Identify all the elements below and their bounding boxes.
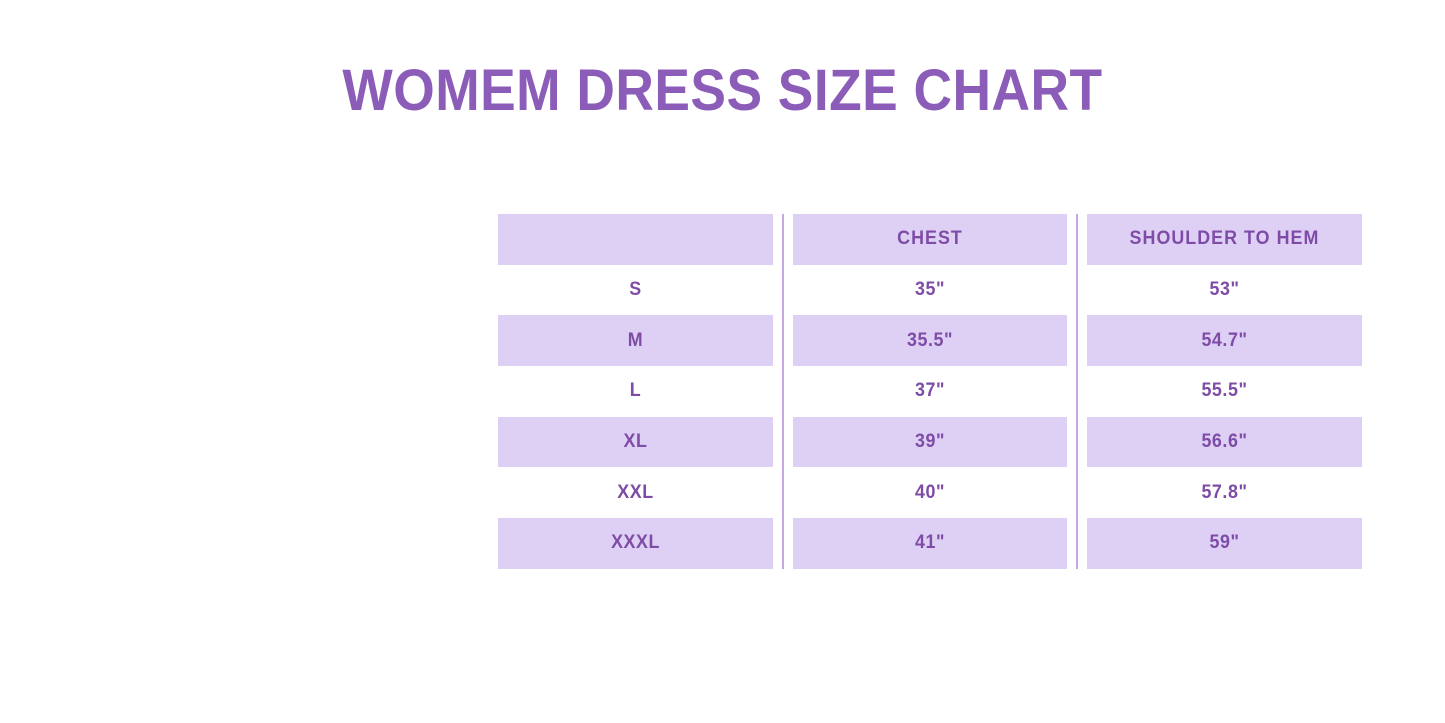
cell-size: XXXL (498, 518, 774, 569)
column-header-size (498, 214, 774, 265)
cell-size: M (498, 315, 774, 366)
cell-chest: 39" (792, 417, 1068, 468)
table-row: L 37" 55.5" (489, 366, 1371, 417)
cell-shoulder-to-hem: 59" (1086, 518, 1362, 569)
table-header: CHEST SHOULDER TO HEM (489, 214, 1371, 265)
cell-size: XL (498, 417, 774, 468)
cell-size: XXL (498, 467, 774, 518)
page-title: WOMEM DRESS SIZE CHART (58, 56, 1387, 126)
table-row: S 35" 53" (489, 265, 1371, 316)
cell-chest: 35.5" (792, 315, 1068, 366)
table-row: M 35.5" 54.7" (489, 315, 1371, 366)
table-body: S 35" 53" M 35.5" 54.7" L 37" 55.5" XL 3… (489, 265, 1371, 569)
cell-chest: 41" (792, 518, 1068, 569)
size-chart-page: WOMEM DRESS SIZE CHART CHEST SHOULDER TO… (0, 0, 1445, 723)
cell-shoulder-to-hem: 57.8" (1086, 467, 1362, 518)
cell-shoulder-to-hem: 56.6" (1086, 417, 1362, 468)
cell-size: L (498, 366, 774, 417)
cell-chest: 37" (792, 366, 1068, 417)
cell-chest: 40" (792, 467, 1068, 518)
cell-shoulder-to-hem: 55.5" (1086, 366, 1362, 417)
cell-shoulder-to-hem: 53" (1086, 265, 1362, 316)
column-header-shoulder-to-hem: SHOULDER TO HEM (1086, 214, 1362, 265)
table-row: XXXL 41" 59" (489, 518, 1371, 569)
size-chart-table: CHEST SHOULDER TO HEM S 35" 53" M 35.5" … (489, 214, 1371, 569)
cell-chest: 35" (792, 265, 1068, 316)
table-row: XL 39" 56.6" (489, 417, 1371, 468)
table-row: XXL 40" 57.8" (489, 467, 1371, 518)
table-header-row: CHEST SHOULDER TO HEM (489, 214, 1371, 265)
column-header-chest: CHEST (792, 214, 1068, 265)
cell-shoulder-to-hem: 54.7" (1086, 315, 1362, 366)
cell-size: S (498, 265, 774, 316)
